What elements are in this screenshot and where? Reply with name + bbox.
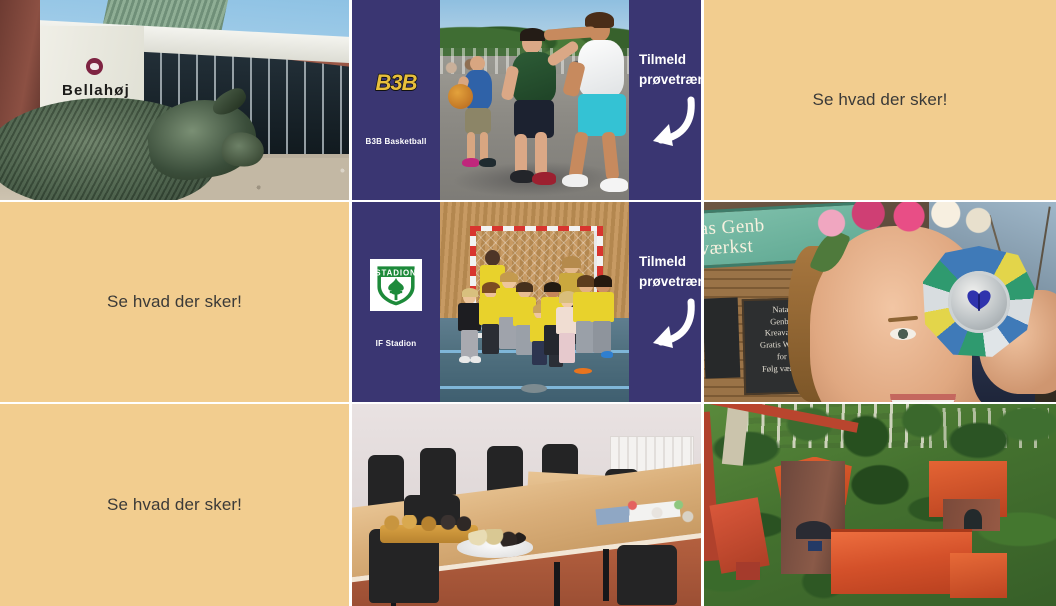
photo-aerial-view-village-church [704, 404, 1056, 606]
shield-fleur-de-lis-icon: STADION [373, 262, 419, 308]
promo-cta-text: Tilmeld prøvetræn [639, 252, 701, 291]
promo-left-panel: STADION IF Stadion [352, 202, 440, 402]
flower-crown [803, 202, 1007, 238]
promo-cta-line1: Tilmeld [639, 50, 701, 70]
roof-ridge [831, 529, 972, 532]
red-shed [736, 562, 761, 580]
gallery-cell-placeholder-3[interactable]: Se hvad der sker! [0, 404, 349, 606]
gallery-cell-promo-b3b[interactable]: B3B B3B Basketball [352, 0, 701, 200]
promo-right-panel: Tilmeld prøvetræn [629, 202, 701, 402]
svg-text:STADION: STADION [375, 268, 416, 277]
butterfly-icon [964, 289, 994, 315]
player-shoe [462, 158, 479, 167]
recycled-can-craft-mandala [923, 246, 1035, 358]
promo-club-name: B3B Basketball [365, 137, 426, 146]
player-white-shirt [548, 10, 629, 196]
player-shoe [562, 174, 588, 187]
promo-cta-line1: Tilmeld [639, 252, 701, 272]
person-shoe [601, 351, 613, 358]
person-hair [562, 256, 581, 268]
player-head [470, 56, 485, 71]
church-porch-roof [950, 553, 1006, 597]
photo-natashas-genbrugs-kreavaerksted: nas Genb aværkst Natashas Genbrugs- Krea… [704, 202, 1056, 402]
person-hair [516, 282, 533, 292]
curved-arrow-down-left-icon [639, 96, 699, 150]
kid-yellow-shirt [589, 278, 615, 360]
basketball [448, 84, 473, 109]
photo-bellahoj-kirke: Bellahøj Kirke [0, 0, 349, 200]
placeholder-label: Se hvad der sker! [107, 292, 242, 312]
stadion-shield-logo: STADION [370, 257, 422, 313]
b3b-logo-text: B3B [375, 70, 416, 96]
person-hair [462, 288, 478, 297]
gallery-cell-promo-if-stadion[interactable]: STADION IF Stadion [352, 202, 701, 402]
pastries-on-tray [383, 515, 470, 531]
placeholder-label: Se hvad der sker! [813, 90, 948, 110]
person-hair [594, 275, 612, 287]
gallery-cell-placeholder-1[interactable]: Se hvad der sker! [704, 0, 1056, 200]
person-legs [461, 330, 478, 358]
person-head [485, 250, 500, 266]
player-jersey [578, 40, 624, 98]
person-hair [544, 282, 561, 292]
player-hair [520, 28, 545, 41]
media-gallery-grid: Bellahøj Kirke B3B B3B Basketball [0, 0, 1056, 606]
player-shoe [510, 170, 534, 183]
person-shirt [590, 292, 614, 322]
promo-right-panel: Tilmeld prøvetræn [629, 0, 701, 200]
table-items [617, 497, 694, 525]
church-lamb-logo-icon [86, 58, 103, 75]
b3b-logo: B3B [375, 55, 416, 111]
chalkboard-secondary [704, 297, 741, 378]
photo-meeting-room-with-cakes [352, 404, 701, 606]
curved-arrow-down-left-icon [639, 298, 699, 352]
tower-clock [808, 541, 822, 551]
promo-cta-line2: prøvetræn [639, 70, 701, 90]
gallery-cell-placeholder-2[interactable]: Se hvad der sker! [0, 202, 349, 402]
chair-backrest [617, 545, 677, 605]
eyebrow [888, 315, 918, 322]
gallery-cell-meeting-room[interactable] [352, 404, 701, 606]
photo-streetball-match [440, 0, 629, 200]
player-leg [535, 132, 547, 176]
player-shoe [600, 178, 628, 192]
player-shorts [465, 108, 491, 134]
placeholder-label: Se hvad der sker! [107, 495, 242, 515]
promo-left-panel: B3B B3B Basketball [352, 0, 440, 200]
gallery-cell-bellahoj-kirke[interactable]: Bellahøj Kirke [0, 0, 349, 200]
photo-kids-handball-team [440, 202, 629, 402]
promo-cta-text: Tilmeld prøvetræn [639, 50, 701, 89]
smiling-mouth [890, 394, 956, 402]
promo-cta-line2: prøvetræn [639, 272, 701, 292]
table-leg [554, 562, 560, 606]
gallery-cell-natashas-genbrug[interactable]: nas Genb aværkst Natashas Genbrugs- Krea… [704, 202, 1056, 402]
metal-lid-center [948, 271, 1011, 334]
player-shoe [479, 158, 496, 167]
church-sign-line1: Bellahøj [62, 82, 130, 100]
gallery-cell-aerial-church[interactable] [704, 404, 1056, 606]
chapel-door [964, 509, 982, 529]
person-shoe [459, 356, 470, 363]
player-arm-raised [544, 26, 597, 41]
person-legs [593, 321, 611, 353]
tower-window [796, 521, 831, 539]
player-leg [602, 131, 620, 180]
eye [890, 328, 916, 340]
logo-white-box: STADION [370, 259, 422, 311]
background-player [456, 56, 508, 168]
person-hair [500, 272, 518, 282]
promo-club-name: IF Stadion [376, 339, 417, 348]
player-shorts [578, 94, 626, 136]
table-leg [603, 549, 609, 601]
chair [617, 545, 683, 606]
